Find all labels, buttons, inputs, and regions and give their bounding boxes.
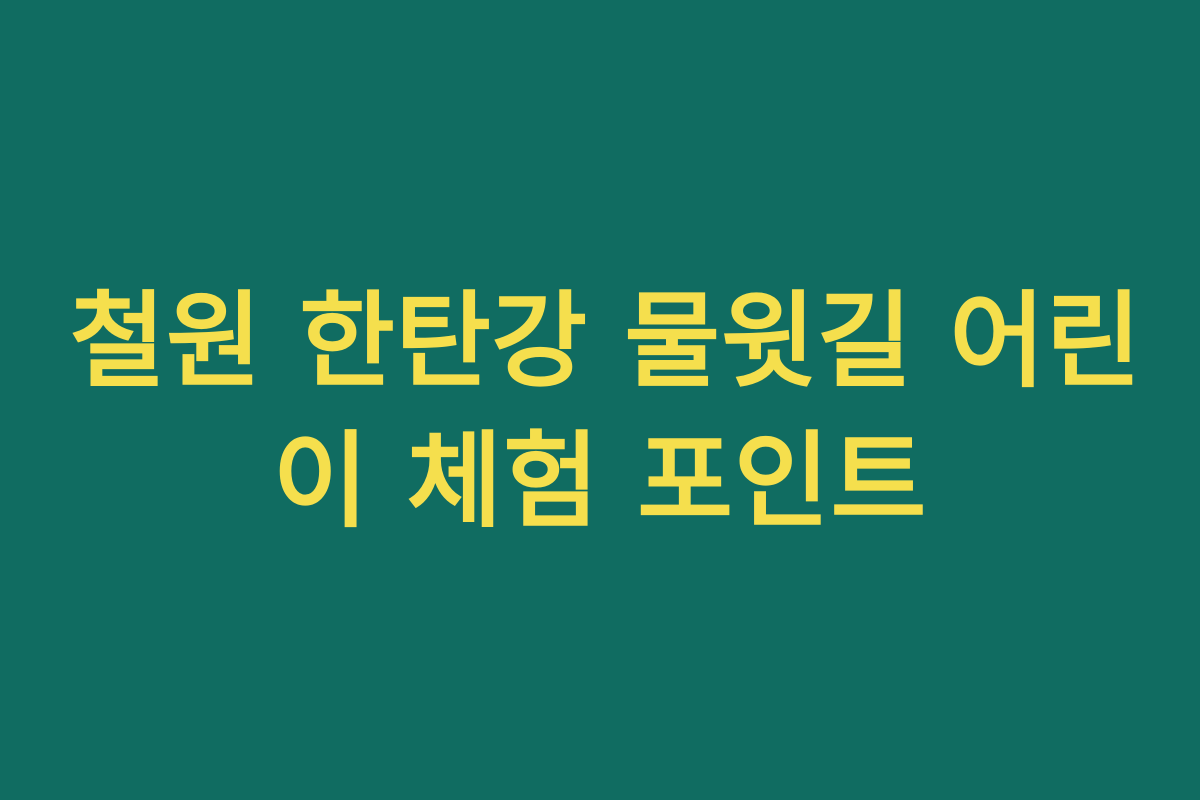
title-line-1: 철원 한탄강 물윗길 어린 (70, 271, 1130, 411)
text-banner-card: 철원 한탄강 물윗길 어린 이 체험 포인트 (0, 0, 1200, 800)
title-line-2: 이 체험 포인트 (70, 411, 1130, 551)
title-block: 철원 한탄강 물윗길 어린 이 체험 포인트 (70, 271, 1130, 551)
